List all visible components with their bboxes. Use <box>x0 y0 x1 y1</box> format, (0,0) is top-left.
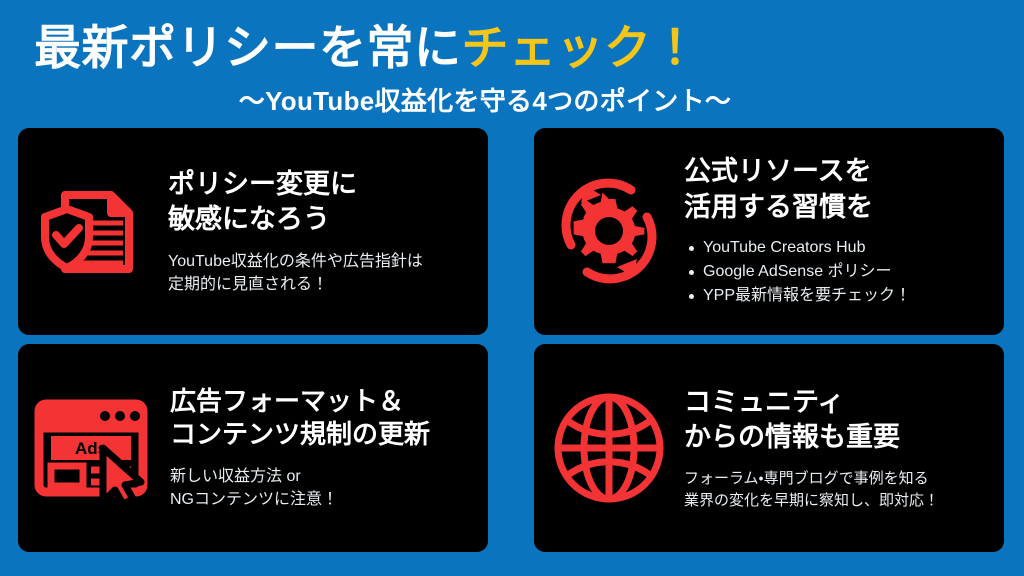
card-desc-line2: 定期的に見直される！ <box>168 273 478 296</box>
card-title-line1: ポリシー変更に <box>168 167 478 202</box>
card-title-line2: からの情報も重要 <box>684 420 994 455</box>
card-title-line2: コンテンツ規制の更新 <box>170 418 478 452</box>
page-subtitle: 〜YouTube収益化を守る4つのポイント〜 <box>34 81 994 118</box>
document-shield-check-icon <box>18 175 168 287</box>
card-title: ポリシー変更に 敏感になろう <box>168 167 478 237</box>
card-title-line2: 活用する習慣を <box>684 190 994 225</box>
card-body: 広告フォーマット＆ コンテンツ規制の更新 新しい収益方法 or NGコンテンツに… <box>170 385 488 512</box>
card-desc-line2: NGコンテンツに注意！ <box>170 488 478 511</box>
card-desc-line1: フォーラム・専門ブログで事例を知る <box>684 468 994 490</box>
card-policy-change[interactable]: ポリシー変更に 敏感になろう YouTube収益化の条件や広告指針は 定期的に見… <box>18 128 488 336</box>
page-title-accent: チェック！ <box>462 21 700 74</box>
list-item[interactable]: YPP最新情報を要チェック！ <box>703 284 994 308</box>
card-title-line2: 敏感になろう <box>168 202 478 237</box>
card-body: ポリシー変更に 敏感になろう YouTube収益化の条件や広告指針は 定期的に見… <box>168 167 488 297</box>
card-title-line1: コミュニティ <box>684 385 994 420</box>
card-ad-format-content-rules[interactable]: Ads 広告フォーマット＆ コンテンツ規制の更新 新しい <box>18 344 488 552</box>
card-title-line1: 公式リソースを <box>684 154 994 189</box>
ads-browser-cursor-icon: Ads <box>18 392 178 504</box>
card-title: 広告フォーマット＆ コンテンツ規制の更新 <box>170 385 478 453</box>
card-official-resources[interactable]: 公式リソースを 活用する習慣を YouTube Creators Hub Goo… <box>534 128 1004 336</box>
list-item[interactable]: Google AdSense ポリシー <box>703 260 994 284</box>
card-grid: ポリシー変更に 敏感になろう YouTube収益化の条件や広告指針は 定期的に見… <box>0 118 1024 576</box>
card-desc-line1: 新しい収益方法 or <box>170 465 478 488</box>
card-desc-line2: 業界の変化を早期に察知し、即対応！ <box>684 490 994 512</box>
card-community-info[interactable]: コミュニティ からの情報も重要 フォーラム・専門ブログで事例を知る 業界の変化を… <box>534 344 1004 552</box>
card-description: フォーラム・専門ブログで事例を知る 業界の変化を早期に察知し、即対応！ <box>684 468 994 512</box>
card-title: コミュニティ からの情報も重要 <box>684 385 994 455</box>
card-description: 新しい収益方法 or NGコンテンツに注意！ <box>170 465 478 511</box>
page-title-main: 最新ポリシーを常に <box>34 21 462 74</box>
card-description: YouTube収益化の条件や広告指針は 定期的に見直される！ <box>168 250 478 296</box>
slide-root: 最新ポリシーを常にチェック！ 〜YouTube収益化を守る4つのポイント〜 <box>0 0 1024 576</box>
card-desc-line1: YouTube収益化の条件や広告指針は <box>168 250 478 273</box>
card-title-line1: 広告フォーマット＆ <box>170 385 478 419</box>
list-item[interactable]: YouTube Creators Hub <box>703 236 994 260</box>
globe-icon <box>534 389 684 507</box>
card-title: 公式リソースを 活用する習慣を <box>684 154 994 224</box>
gear-refresh-icon <box>534 173 684 289</box>
card-body: コミュニティ からの情報も重要 フォーラム・専門ブログで事例を知る 業界の変化を… <box>684 385 1004 512</box>
page-title: 最新ポリシーを常にチェック！ <box>34 22 994 75</box>
resource-list: YouTube Creators Hub Google AdSense ポリシー… <box>684 236 994 309</box>
slide-header: 最新ポリシーを常にチェック！ 〜YouTube収益化を守る4つのポイント〜 <box>0 0 1024 118</box>
card-body: 公式リソースを 活用する習慣を YouTube Creators Hub Goo… <box>684 154 1004 308</box>
